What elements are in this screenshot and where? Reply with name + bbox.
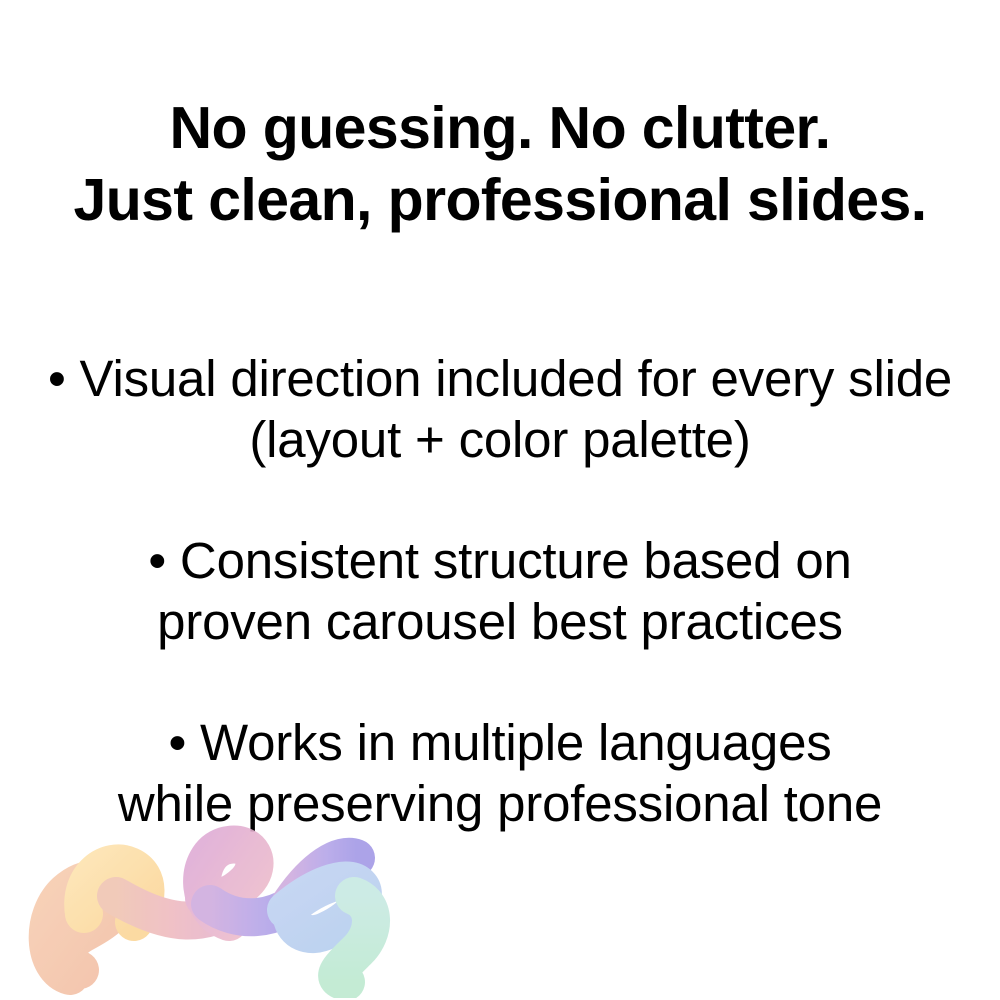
page-title: No guessing. No clutter. Just clean, pro… [0, 92, 1000, 236]
bullet-1-line-2: (layout + color palette) [0, 409, 1000, 470]
bullet-3-line-2: while preserving professional tone [0, 773, 1000, 834]
list-item: • Consistent structure based on proven c… [0, 530, 1000, 652]
list-item: • Works in multiple languages while pres… [0, 712, 1000, 834]
bullet-2-line-2: proven carousel best practices [0, 591, 1000, 652]
bullet-list: • Visual direction included for every sl… [0, 348, 1000, 834]
bullet-2-line-1: • Consistent structure based on [0, 530, 1000, 591]
squiggle-decoration-icon [24, 818, 464, 998]
bullet-1-line-1: • Visual direction included for every sl… [0, 348, 1000, 409]
title-line-2: Just clean, professional slides. [0, 164, 1000, 236]
slide-canvas: No guessing. No clutter. Just clean, pro… [0, 0, 1000, 1000]
title-line-1: No guessing. No clutter. [0, 92, 1000, 164]
list-item: • Visual direction included for every sl… [0, 348, 1000, 470]
bullet-3-line-1: • Works in multiple languages [0, 712, 1000, 773]
